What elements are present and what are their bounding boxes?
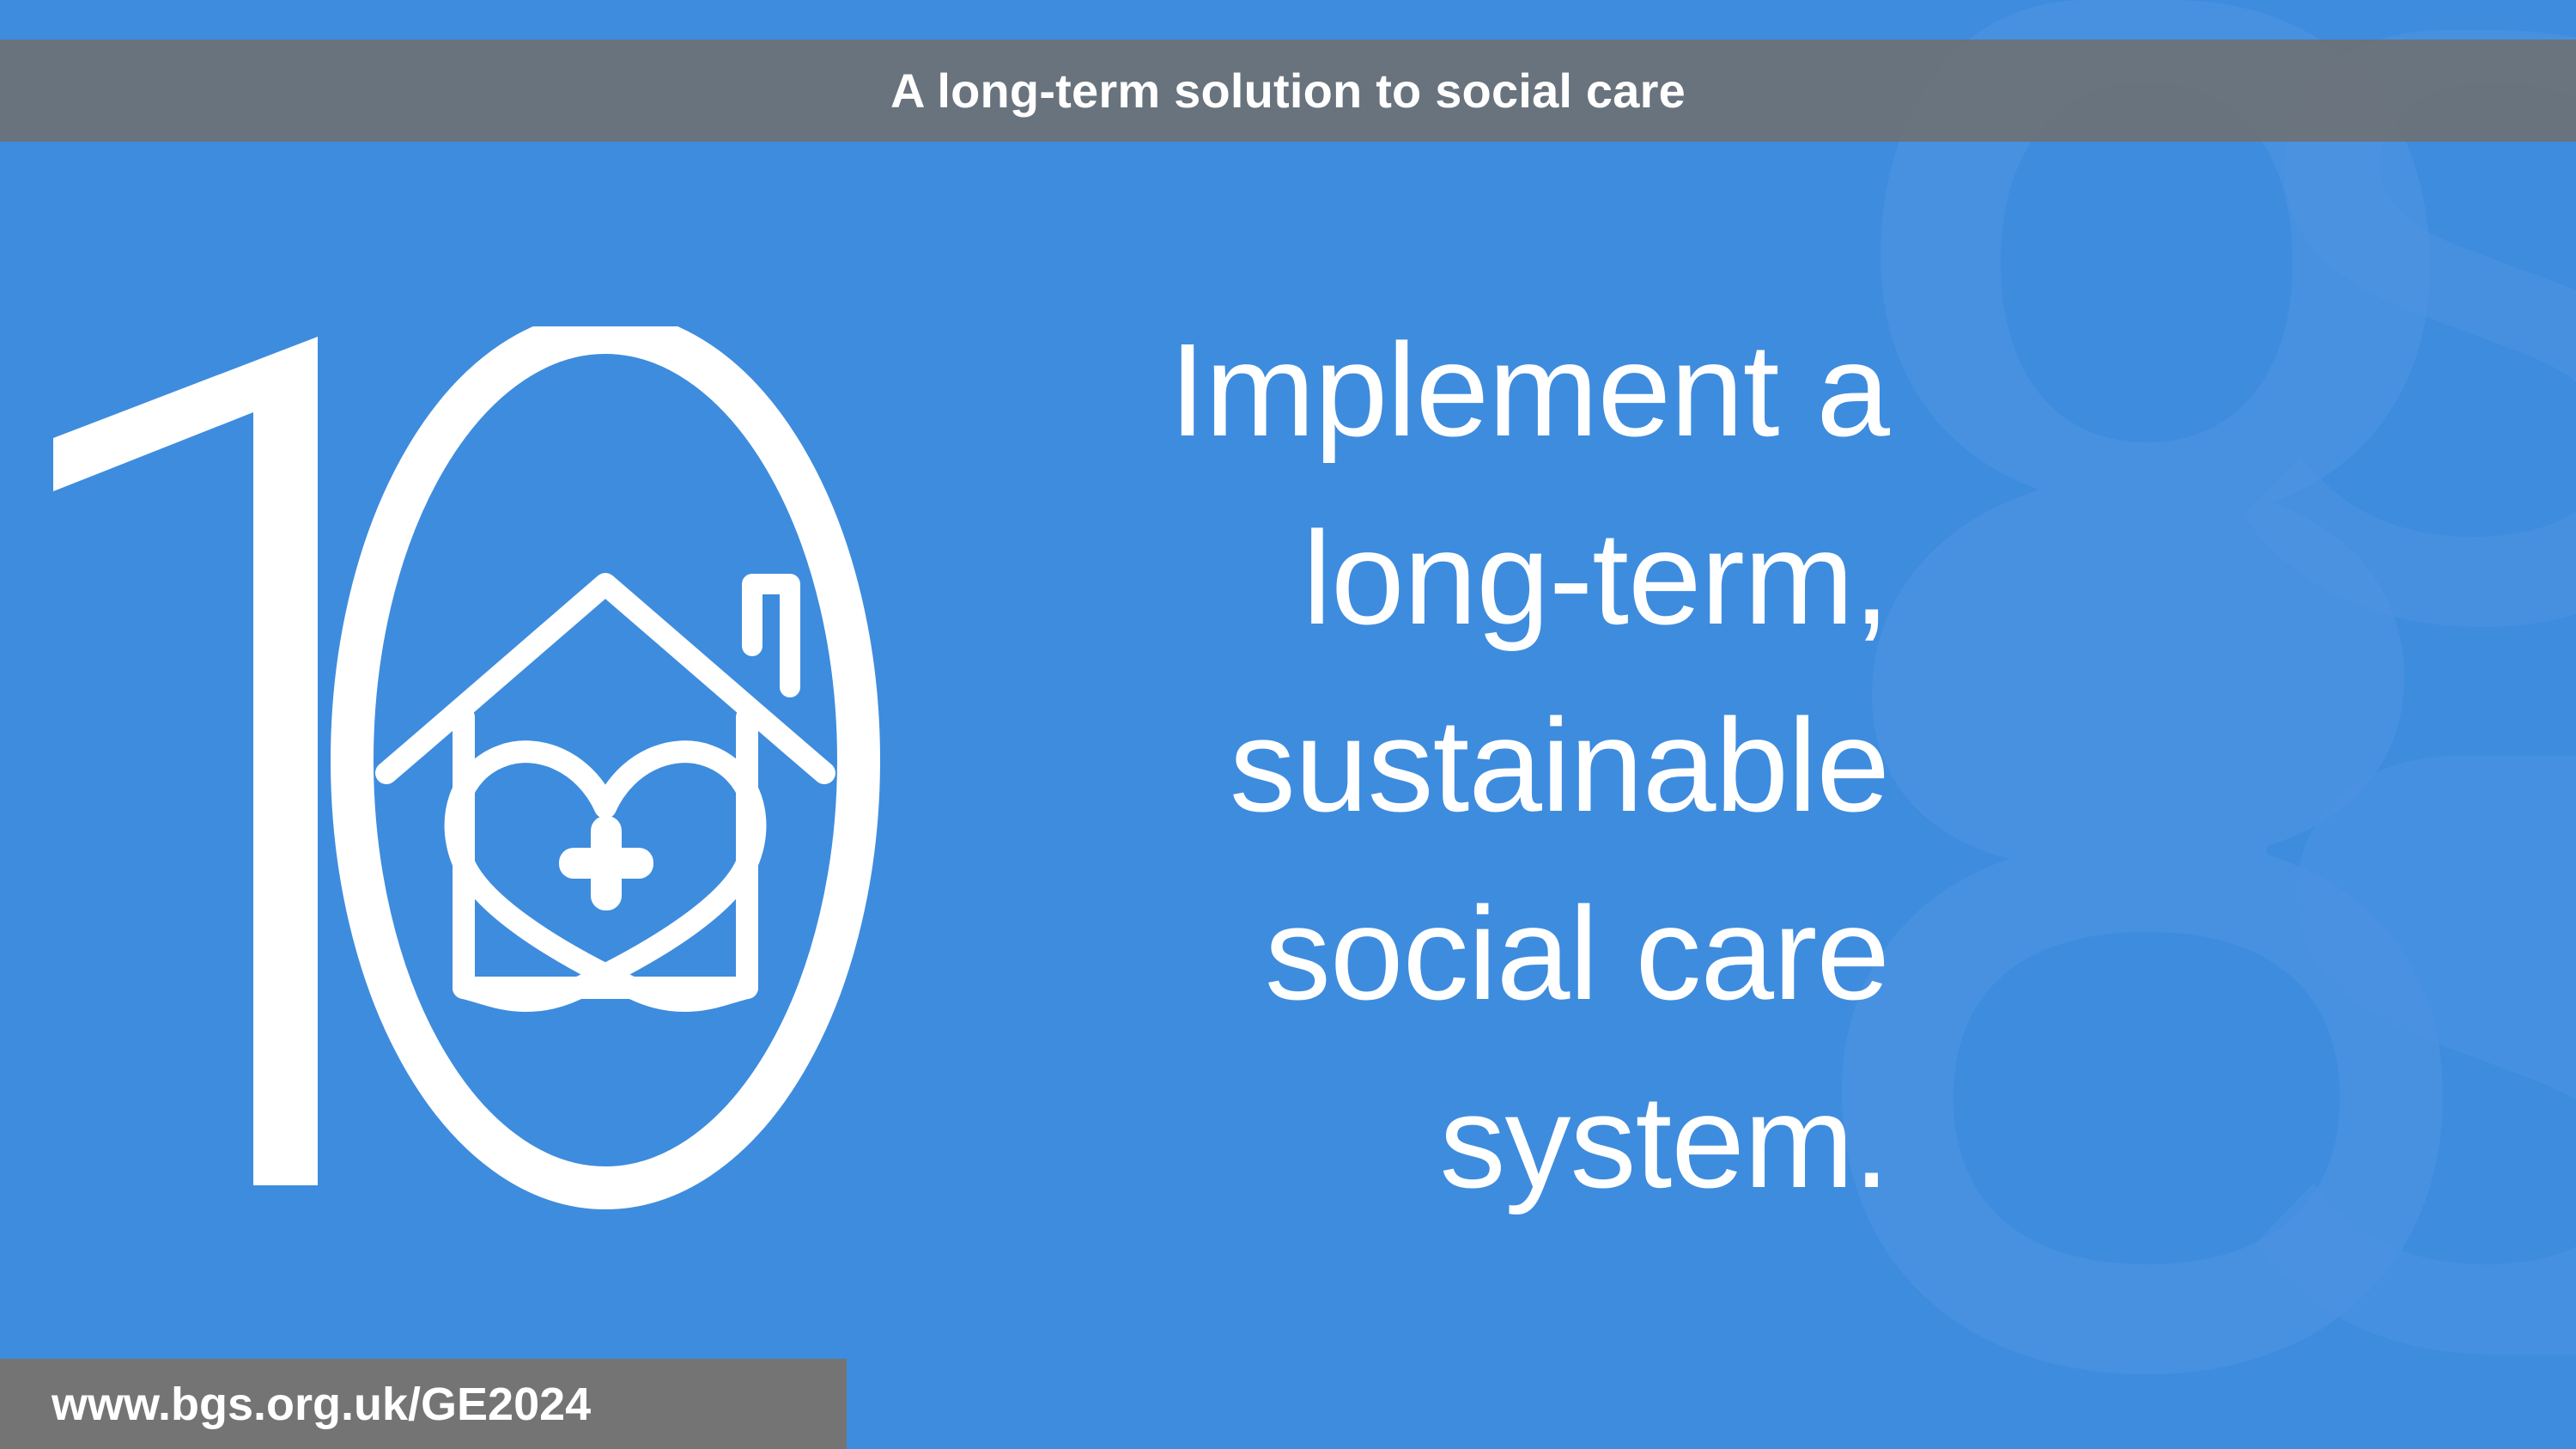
main-content: Implement a long-term, sustainable socia… — [0, 142, 2576, 1359]
care-home-heart-icon — [386, 584, 824, 1001]
numeral-ten-graphic — [34, 326, 1082, 1211]
statement-line-2: long-term, — [1056, 484, 1889, 673]
plus-icon — [559, 816, 653, 910]
page-title: A long-term solution to social care — [890, 63, 1686, 119]
footer-bar: www.bgs.org.uk/GE2024 — [0, 1359, 847, 1449]
slide-canvas: A long-term solution to social care — [0, 0, 2576, 1449]
website-url[interactable]: www.bgs.org.uk/GE2024 — [0, 1378, 591, 1431]
statement-line-1: Implement a — [1056, 296, 1889, 484]
statement-line-5: system. — [1056, 1048, 1889, 1236]
header-bar: A long-term solution to social care — [0, 40, 2576, 142]
digit-zero-shape — [352, 332, 859, 1188]
statement-text: Implement a long-term, sustainable socia… — [1056, 296, 1889, 1235]
statement-line-4: social care — [1056, 860, 1889, 1048]
statement-line-3: sustainable — [1056, 672, 1889, 860]
digit-one-shape — [53, 337, 318, 1185]
